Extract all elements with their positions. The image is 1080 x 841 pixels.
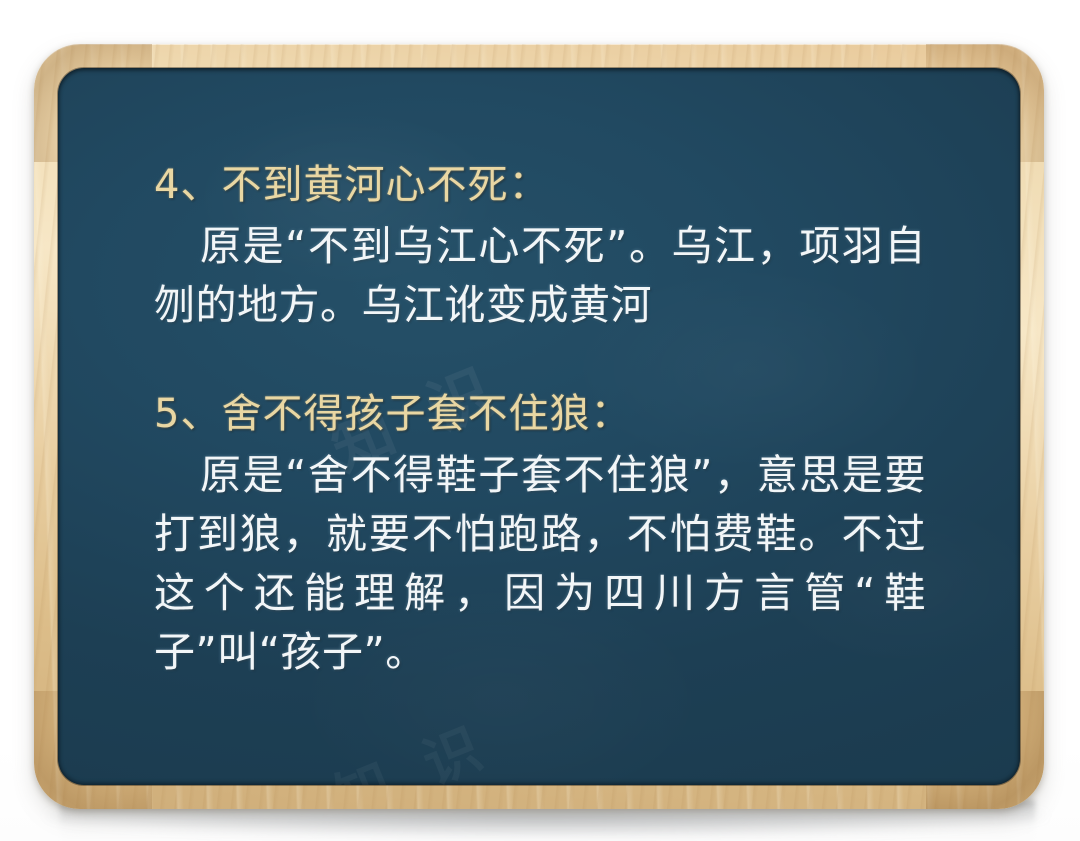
- entry-4-title: 4、不到黄河心不死：: [154, 160, 968, 210]
- chalkboard-surface: 知 识 知 识 4、不到黄河心不死： 原是“不到乌江心不死”。乌江，项羽自刎的地…: [58, 68, 1020, 785]
- entry-5: 5、舍不得孩子套不住狼： 原是“舍不得鞋子套不住狼”，意思是要打到狼，就要不怕跑…: [154, 389, 968, 682]
- entry-5-title: 5、舍不得孩子套不住狼：: [154, 389, 968, 439]
- board-drop-shadow: [46, 812, 1046, 838]
- wooden-frame: 知 识 知 识 4、不到黄河心不死： 原是“不到乌江心不死”。乌江，项羽自刎的地…: [34, 44, 1044, 809]
- entry-4-body: 原是“不到乌江心不死”。乌江，项羽自刎的地方。乌江讹变成黄河: [154, 217, 926, 335]
- content-area: 4、不到黄河心不死： 原是“不到乌江心不死”。乌江，项羽自刎的地方。乌江讹变成黄…: [154, 160, 968, 745]
- screenshot-stage: 知 识 知 识 4、不到黄河心不死： 原是“不到乌江心不死”。乌江，项羽自刎的地…: [0, 0, 1080, 841]
- entry-4: 4、不到黄河心不死： 原是“不到乌江心不死”。乌江，项羽自刎的地方。乌江讹变成黄…: [154, 160, 968, 335]
- entry-5-body: 原是“舍不得鞋子套不住狼”，意思是要打到狼，就要不怕跑路，不怕费鞋。不过这个还能…: [154, 446, 926, 682]
